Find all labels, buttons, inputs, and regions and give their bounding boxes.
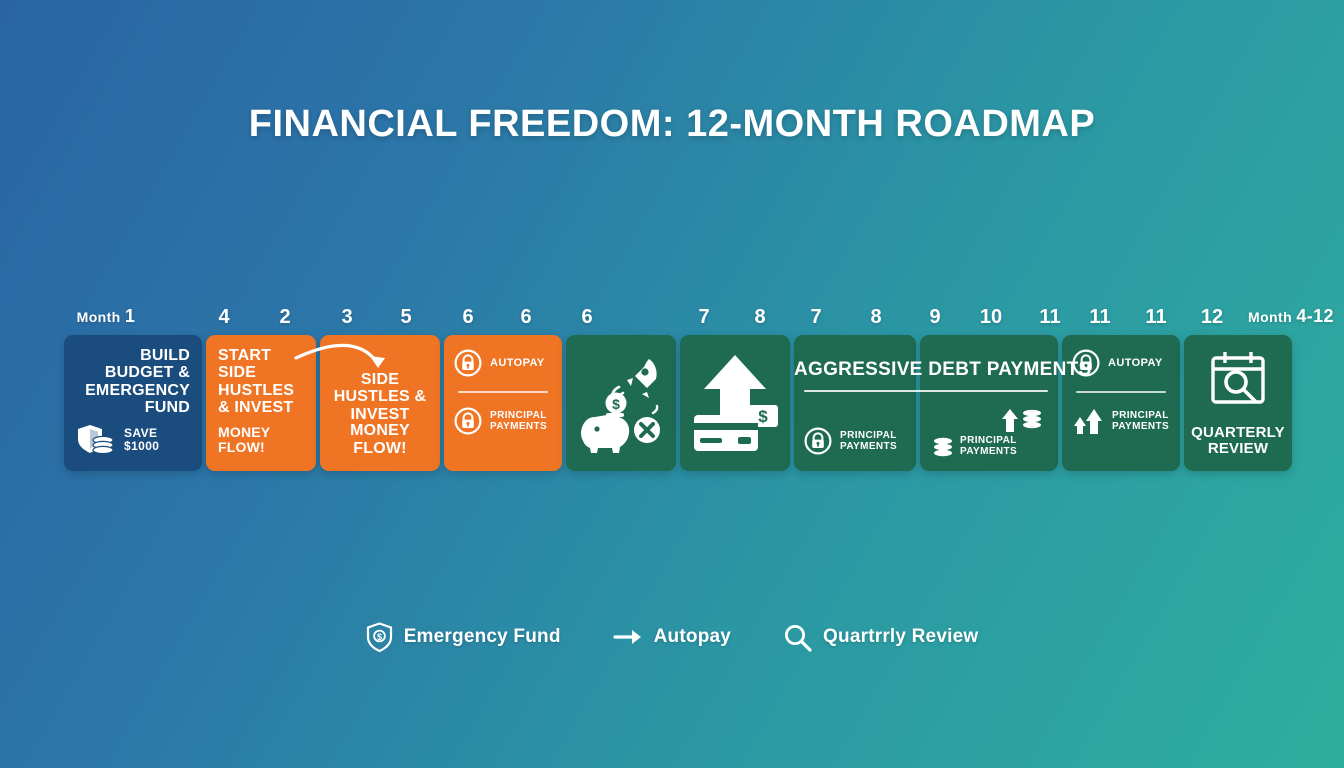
card-build-budget[interactable]: BUILD BUDGET & EMERGENCY FUND SAVE $1000 <box>64 335 202 471</box>
card-headline: START SIDE HUSTLES & INVEST <box>218 347 304 416</box>
roadmap-board: Month 1 4 2 3 5 6 6 6 8 7 7 8 9 10 11 11… <box>56 306 1288 471</box>
shield-dollar-icon: $ <box>366 622 393 652</box>
month-label: 3 <box>341 306 352 329</box>
card-aggressive-debt-left[interactable]: PRINCIPAL PAYMENTS <box>794 335 916 471</box>
legend-item-emergency-fund[interactable]: $ Emergency Fund <box>366 622 561 652</box>
svg-text:$: $ <box>758 407 768 426</box>
arrow-right-icon <box>613 626 643 648</box>
card-row-principal: PRINCIPAL PAYMENTS <box>932 433 1050 459</box>
card-row-label: PRINCIPAL PAYMENTS <box>490 410 552 432</box>
page-title: FINANCIAL FREEDOM: 12-MONTH ROADMAP <box>0 103 1344 146</box>
card-row-label: AUTOPAY <box>490 357 545 369</box>
svg-text:$: $ <box>612 396 620 412</box>
legend-item-autopay[interactable]: Autopay <box>613 626 731 648</box>
card-autopay-principal-green[interactable]: AUTOPAY PRINCIPAL PAYMENTS <box>1062 335 1180 471</box>
month-label: 11 <box>1039 306 1060 329</box>
month-label: 7 <box>810 306 821 329</box>
calendar-magnifier-icon <box>1184 349 1292 405</box>
card-autopay-principal[interactable]: AUTOPAY PRINCIPAL PAYMENTS <box>444 335 562 471</box>
shield-coins-icon <box>76 423 118 457</box>
card-row: BUILD BUDGET & EMERGENCY FUND SAVE $1000 <box>56 335 1288 471</box>
magnifier-icon <box>783 623 812 652</box>
svg-text:$: $ <box>377 632 382 642</box>
card-row-label: AUTOPAY <box>1108 357 1163 369</box>
card-caption: SAVE $1000 <box>124 427 192 454</box>
month-label-row: Month 1 4 2 3 5 6 6 6 8 7 7 8 9 10 11 11… <box>56 306 1288 332</box>
card-headline: SIDE HUSTLES & INVEST <box>332 371 428 423</box>
card-credit-card-growth[interactable]: $ <box>680 335 790 471</box>
lock-circle-icon <box>454 407 482 435</box>
month-label: 10 <box>980 306 1002 329</box>
lock-circle-icon <box>454 349 482 377</box>
card-piggy-rocket[interactable]: $ <box>566 335 676 471</box>
card-row-label: PRINCIPAL PAYMENTS <box>840 430 916 452</box>
month-label: 12 <box>1201 306 1223 329</box>
month-label: 8 <box>754 306 765 329</box>
card-row-label: PRINCIPAL PAYMENTS <box>960 435 1050 457</box>
month-label: 11 <box>1145 306 1166 329</box>
card-headline: QUARTERLY REVIEW <box>1190 425 1286 457</box>
legend-label: Autopay <box>654 626 731 648</box>
month-label: 5 <box>400 306 411 329</box>
month-label: 6 <box>520 306 531 329</box>
legend: $ Emergency Fund Autopay Quartrrly Revie… <box>0 622 1344 652</box>
divider <box>458 391 548 393</box>
legend-item-quarterly-review[interactable]: Quartrrly Review <box>783 623 978 652</box>
card-side-hustles[interactable]: SIDE HUSTLES & INVEST MONEY FLOW! <box>320 335 440 471</box>
month-label: 9 <box>929 306 940 329</box>
card-row-principal: PRINCIPAL PAYMENTS <box>804 427 916 455</box>
month-label: 2 <box>279 306 290 329</box>
legend-label: Quartrrly Review <box>823 626 978 648</box>
month-label: 11 <box>1089 306 1110 329</box>
card-caption: MONEY FLOW! <box>218 425 316 455</box>
card-row-principal: PRINCIPAL PAYMENTS <box>454 407 552 435</box>
credit-card-up-arrow-icon: $ <box>680 353 790 453</box>
card-headline: BUILD BUDGET & EMERGENCY FUND <box>76 347 190 416</box>
card-row-label: PRINCIPAL PAYMENTS <box>1112 410 1170 432</box>
card-row-principal: PRINCIPAL PAYMENTS <box>1072 407 1170 435</box>
aggressive-debt-span-title: AGGRESSIVE DEBT PAYMENTS <box>794 359 1058 381</box>
month-label: Month 4-12 <box>1248 306 1334 327</box>
month-label: Month 1 <box>77 306 136 327</box>
two-arrows-icon <box>1072 407 1104 435</box>
legend-label: Emergency Fund <box>404 626 561 648</box>
aggressive-debt-divider <box>804 390 1048 392</box>
month-label: 8 <box>870 306 881 329</box>
card-row-autopay: AUTOPAY <box>454 349 552 377</box>
month-label: 6 <box>462 306 473 329</box>
card-caption: MONEY FLOW! <box>332 422 428 457</box>
coins-up-arrow-icon <box>1000 407 1044 433</box>
divider <box>1076 391 1166 393</box>
card-aggressive-debt-right[interactable]: PRINCIPAL PAYMENTS <box>920 335 1058 471</box>
lock-circle-icon <box>804 427 832 455</box>
card-quarterly-review[interactable]: QUARTERLY REVIEW <box>1184 335 1292 471</box>
month-label: 6 <box>581 306 592 329</box>
coins-up-arrow-icon <box>932 433 954 459</box>
month-label: 7 <box>698 306 709 329</box>
card-start-side-hustles[interactable]: START SIDE HUSTLES & INVEST MONEY FLOW! <box>206 335 316 471</box>
month-label: 4 <box>218 306 229 329</box>
piggy-bank-rocket-icon: $ <box>566 353 676 453</box>
